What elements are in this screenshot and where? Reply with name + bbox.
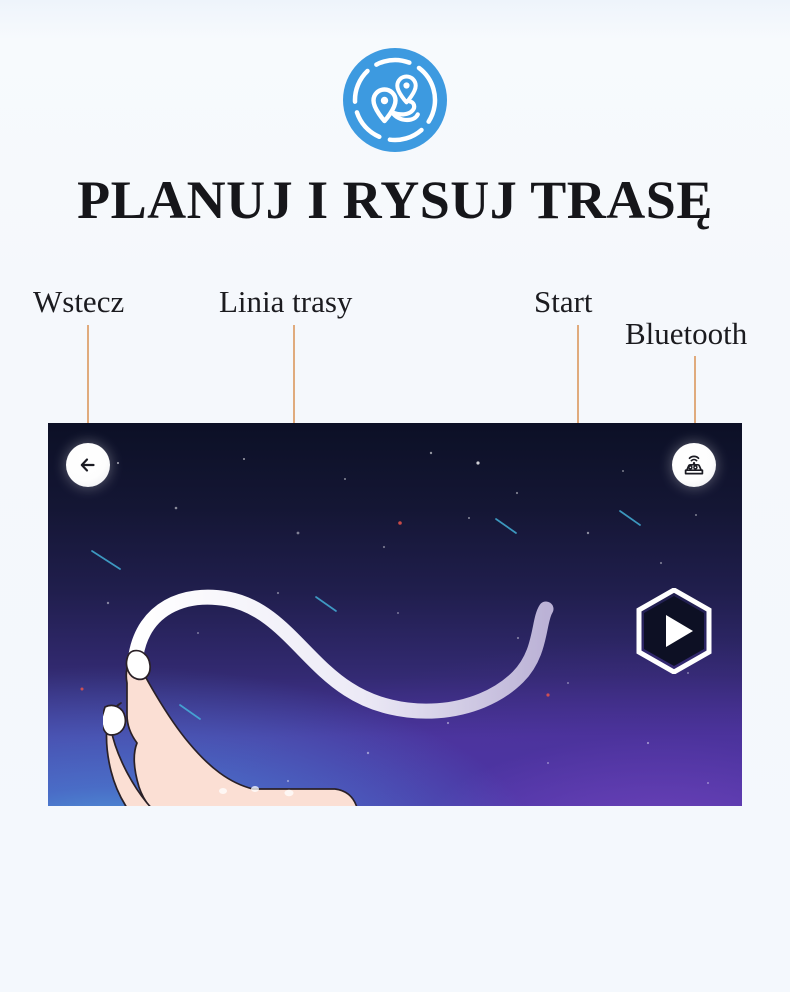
play-triangle-icon — [635, 588, 713, 674]
callout-label-start: Start — [534, 286, 593, 317]
logo-container — [0, 48, 790, 152]
arrow-left-icon — [77, 454, 99, 476]
bluetooth-button[interactable] — [672, 443, 716, 487]
callout-label-back: Wstecz — [33, 286, 124, 317]
car-wireless-icon — [680, 451, 708, 479]
callout-label-route-line: Linia trasy — [219, 286, 352, 317]
device-screen — [48, 423, 742, 806]
back-button[interactable] — [66, 443, 110, 487]
callout-label-bluetooth: Bluetooth — [625, 318, 747, 349]
page-title: PLANUJ I RYSUJ TRASĘ — [0, 172, 790, 229]
pointing-hand-illustration — [103, 631, 433, 806]
logo-svg — [343, 48, 447, 152]
start-button[interactable] — [635, 588, 713, 674]
page-root: PLANUJ I RYSUJ TRASĘ Wstecz Linia trasy … — [0, 0, 790, 992]
route-map-pins-logo-icon — [343, 48, 447, 152]
